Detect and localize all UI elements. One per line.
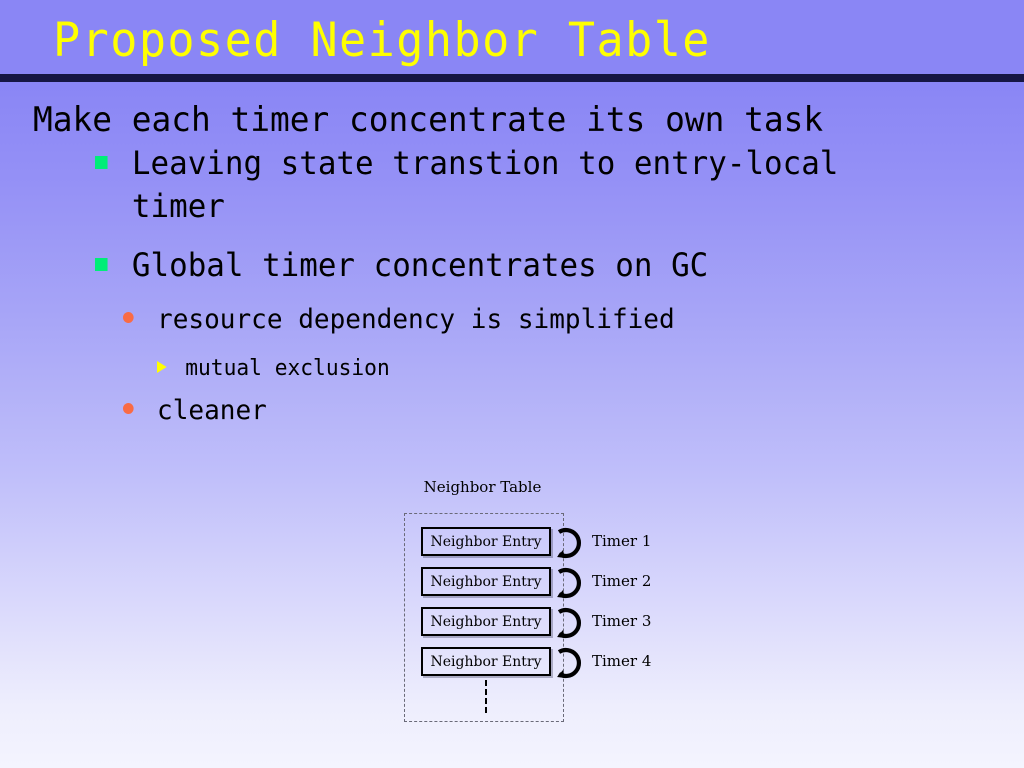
bullet-marker-none — [95, 202, 108, 215]
neighbor-table-diagram: Neighbor Table Neighbor Entry Timer 1 Ne… — [395, 478, 685, 733]
neighbor-entry-box: Neighbor Entry — [421, 527, 551, 556]
timer-label: Timer 3 — [592, 612, 651, 630]
bullet-line-3: Global timer concentrates on GC — [95, 244, 991, 287]
bullet-marker-round-icon — [123, 403, 134, 414]
bullet-text: cleaner — [157, 391, 267, 431]
bullet-marker-square-icon — [95, 258, 108, 271]
bullet-line-1: Leaving state transtion to entry-local — [95, 142, 991, 185]
bullet-line-0: Make each timer concentrate its own task — [33, 98, 989, 142]
table-row: Neighbor Entry Timer 2 — [395, 567, 685, 597]
vertical-ellipsis-icon — [485, 680, 487, 713]
timer-label: Timer 2 — [592, 572, 651, 590]
table-row: Neighbor Entry Timer 3 — [395, 607, 685, 637]
timer-label: Timer 4 — [592, 652, 651, 670]
title-divider-rule — [0, 74, 1024, 82]
bullet-text: resource dependency is simplified — [157, 300, 675, 340]
bullet-list: Make each timer concentrate its own task… — [0, 98, 1024, 431]
table-row: Neighbor Entry Timer 4 — [395, 647, 685, 677]
neighbor-entry-box: Neighbor Entry — [421, 647, 551, 676]
neighbor-entry-box: Neighbor Entry — [421, 607, 551, 636]
bullet-marker-square-icon — [95, 156, 108, 169]
bullet-text: Leaving state transtion to entry-local — [132, 142, 838, 185]
timer-loop-arrow-icon — [553, 563, 593, 603]
timer-loop-arrow-icon — [553, 523, 593, 563]
bullet-line-4: resource dependency is simplified — [123, 300, 992, 340]
bullet-line-2-continuation: timer — [95, 185, 991, 228]
page-title: Proposed Neighbor Table — [53, 14, 711, 68]
slide-canvas: Proposed Neighbor Table Make each timer … — [0, 0, 1024, 768]
timer-loop-arrow-icon — [553, 643, 593, 683]
neighbor-entry-box: Neighbor Entry — [421, 567, 551, 596]
bullet-marker-triangle-icon — [157, 361, 167, 373]
bullet-text: timer — [132, 185, 225, 228]
bullet-text: Make each timer concentrate its own task — [33, 98, 823, 142]
bullet-line-6: cleaner — [123, 391, 992, 431]
table-row: Neighbor Entry Timer 1 — [395, 527, 685, 557]
bullet-line-5: mutual exclusion — [157, 352, 994, 385]
timer-loop-arrow-icon — [553, 603, 593, 643]
bullet-text: Global timer concentrates on GC — [132, 244, 708, 287]
bullet-text: mutual exclusion — [185, 352, 390, 385]
diagram-title-label: Neighbor Table — [395, 478, 570, 496]
bullet-marker-round-icon — [123, 312, 134, 323]
timer-label: Timer 1 — [592, 532, 651, 550]
